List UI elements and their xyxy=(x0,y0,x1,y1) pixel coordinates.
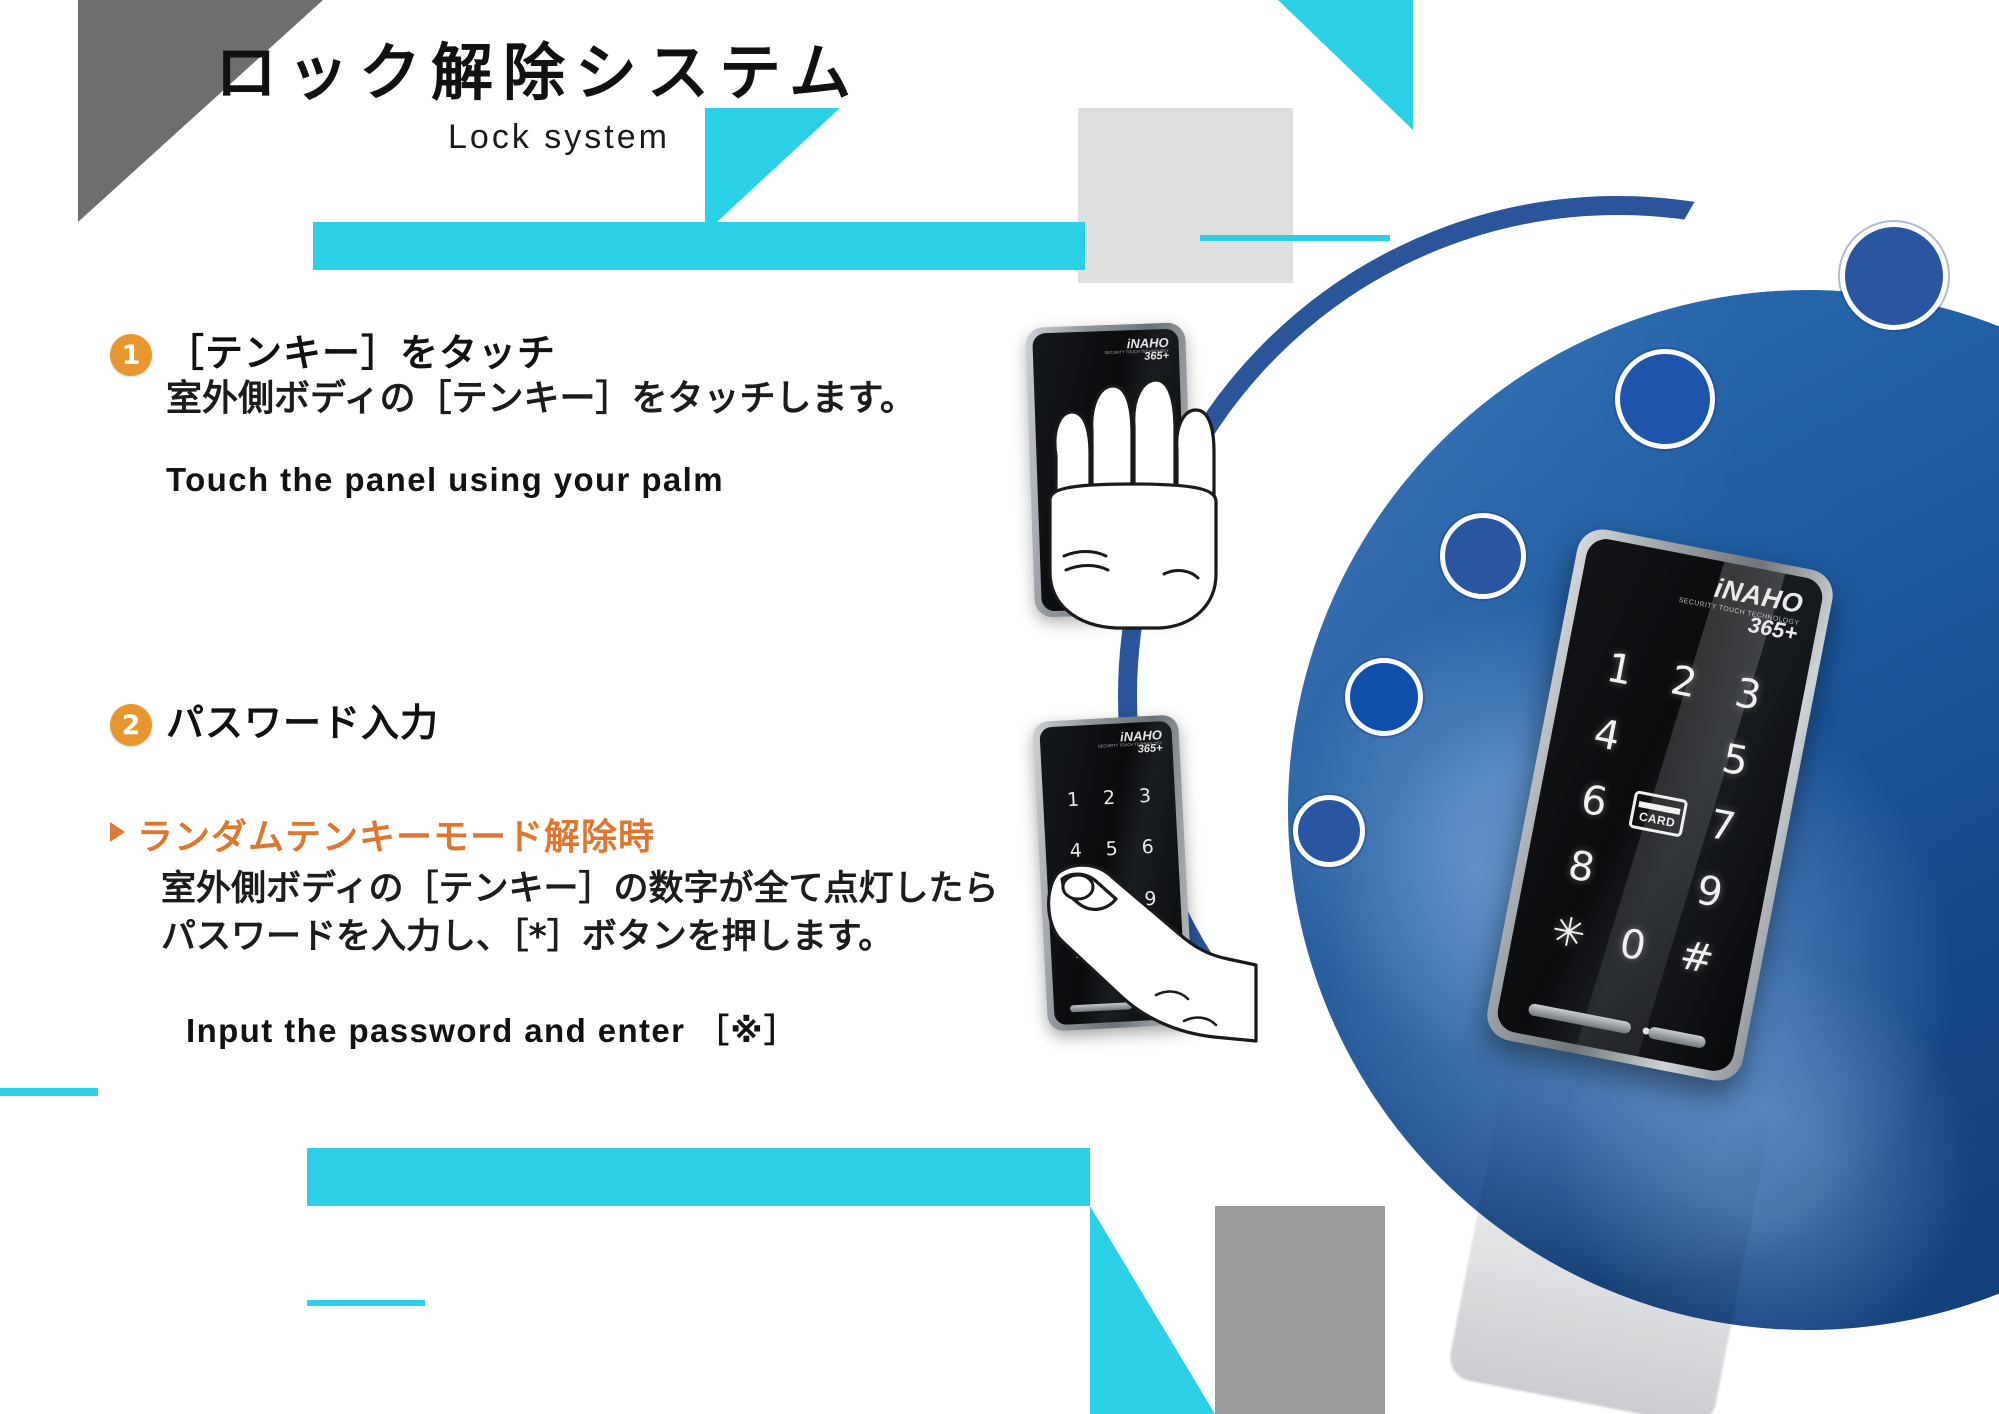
arc-node-4 xyxy=(1345,658,1423,736)
key-1: 1 xyxy=(1603,644,1637,694)
bottom-cyan-triangle xyxy=(1090,1206,1215,1414)
card-icon: CARD xyxy=(1628,790,1688,838)
step-2-lines: パスワード入力 xyxy=(166,700,439,746)
step-2-head: 2 パスワード入力 xyxy=(110,700,999,746)
bottom-gray-block xyxy=(1215,1206,1385,1414)
header-cyan-triangle-right xyxy=(1278,0,1413,130)
key-small-2: 2 xyxy=(1102,787,1115,810)
page-title-en: Lock system xyxy=(448,118,670,157)
arc-node-1 xyxy=(1840,222,1948,330)
key-small-3: 3 xyxy=(1138,785,1151,808)
step-1-sub-ja: 室外側ボディの［テンキー］をタッチします。 xyxy=(166,376,916,423)
step-2-bullet-body: ランダムテンキーモード解除時 室外側ボディの［テンキー］の数字が全て点灯したら … xyxy=(137,808,999,961)
key-9: 9 xyxy=(1693,867,1727,917)
key-0: 0 xyxy=(1616,921,1650,971)
key-5: 5 xyxy=(1718,735,1752,785)
arc-node-3 xyxy=(1440,513,1526,599)
header-cyan-line xyxy=(1200,235,1390,241)
bottom-cyan-bar xyxy=(307,1148,1090,1206)
header-cyan-triangle-left xyxy=(705,108,840,233)
step-1-title-ja: ［テンキー］をタッチ xyxy=(166,330,916,376)
step-1-lines: ［テンキー］をタッチ 室外側ボディの［テンキー］をタッチします。 xyxy=(166,330,916,423)
arc-node-2 xyxy=(1615,349,1715,449)
step-2-body-line-1: 室外側ボディの［テンキー］の数字が全て点灯したら xyxy=(161,866,999,914)
triangle-arrow-icon xyxy=(110,822,125,842)
palm-hand-illustration xyxy=(1020,360,1250,660)
page-title-ja: ロック解除システム xyxy=(215,22,861,112)
header-gray-band xyxy=(1078,108,1293,283)
header-cyan-bar xyxy=(313,222,1085,270)
step-1-head: 1 ［テンキー］をタッチ 室外側ボディの［テンキー］をタッチします。 xyxy=(110,330,916,423)
arc-node-5 xyxy=(1293,795,1365,867)
step-1-badge: 1 xyxy=(110,334,152,376)
key-hash: # xyxy=(1676,932,1718,984)
bottom-cyan-line-left xyxy=(0,1088,98,1096)
key-3: 3 xyxy=(1731,669,1765,719)
key-4: 4 xyxy=(1590,710,1624,760)
step-2-title-ja: パスワード入力 xyxy=(166,700,439,746)
step-2-orange-heading: ランダムテンキーモード解除時 xyxy=(137,808,999,860)
card-icon-label: CARD xyxy=(1638,809,1677,830)
key-6: 6 xyxy=(1577,776,1611,826)
step-2-body-line-2: パスワードを入力し、［*］ボタンを押します。 xyxy=(161,914,999,962)
speaker-slot-right xyxy=(1647,1026,1706,1049)
step-2: 2 パスワード入力 ランダムテンキーモード解除時 室外側ボディの［テンキー］の数… xyxy=(110,700,999,1052)
step-2-badge: 2 xyxy=(110,704,152,746)
infographic-page: ロック解除システム Lock system 1 ［テンキー］をタッチ 室外側ボデ… xyxy=(0,0,1999,1414)
key-2: 2 xyxy=(1667,657,1701,707)
pointing-finger-illustration xyxy=(1028,855,1258,1115)
device-brand-hero: iNAHO SECURITY TOUCH TECHNOLOGY 365+ xyxy=(1675,568,1806,644)
key-star: ✳ xyxy=(1548,908,1590,960)
device-brand-step2: iNAHO SECURITY TOUCH TECHNOLOGY 365+ xyxy=(1097,728,1163,757)
key-7: 7 xyxy=(1706,801,1740,851)
bottom-cyan-line-small xyxy=(307,1300,425,1306)
step-1: 1 ［テンキー］をタッチ 室外側ボディの［テンキー］をタッチします。 Touch… xyxy=(110,330,916,499)
step-1-text-en: Touch the panel using your palm xyxy=(166,461,916,499)
key-small-1: 1 xyxy=(1066,788,1079,811)
key-8: 8 xyxy=(1564,842,1598,892)
step-2-bullet-row: ランダムテンキーモード解除時 室外側ボディの［テンキー］の数字が全て点灯したら … xyxy=(110,808,999,961)
step-2-text-en: Input the password and enter ［※］ xyxy=(186,1004,999,1052)
keypad-hero: 1 2 3 4 5 6 CARD 7 8 9 ✳ 0 # xyxy=(1530,630,1787,997)
